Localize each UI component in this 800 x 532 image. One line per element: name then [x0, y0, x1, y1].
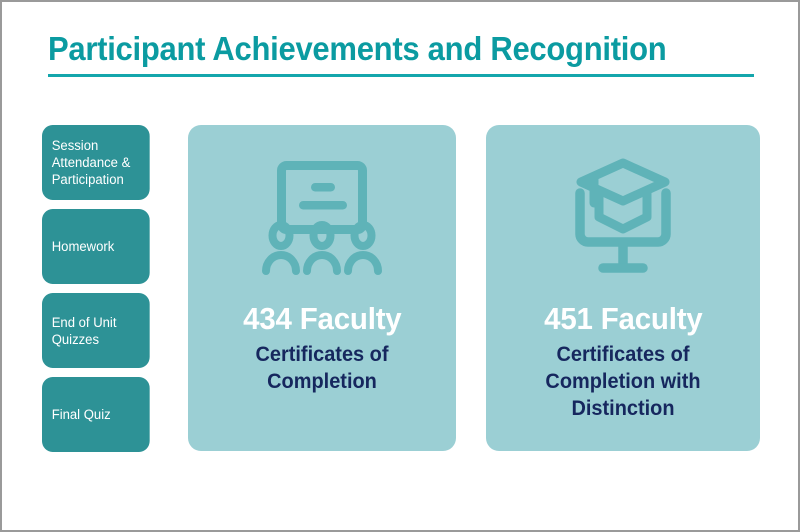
chip-homework[interactable]: Homework	[42, 209, 150, 284]
title-underline-rule	[48, 74, 754, 77]
assessment-chip-list: Session Attendance & Participation Homew…	[42, 125, 153, 452]
slide: Participant Achievements and Recognition…	[0, 0, 800, 532]
chip-label: Homework	[52, 238, 115, 255]
stat-card-certificates-of-completion[interactable]: 434 Faculty Certificates of Completion	[188, 125, 456, 451]
stat-caption: Certificates of Completion with Distinct…	[493, 341, 753, 422]
graduation-cap-monitor-icon	[561, 151, 685, 287]
chip-label: End of Unit Quizzes	[52, 314, 140, 348]
stat-card-certificates-with-distinction[interactable]: 451 Faculty Certificates of Completion w…	[486, 125, 760, 451]
chip-final-quiz[interactable]: Final Quiz	[42, 377, 150, 452]
chip-label: Session Attendance & Participation	[52, 137, 140, 188]
chip-session-attendance-participation[interactable]: Session Attendance & Participation	[42, 125, 150, 200]
page-title: Participant Achievements and Recognition	[48, 30, 715, 68]
chip-end-of-unit-quizzes[interactable]: End of Unit Quizzes	[42, 293, 150, 368]
title-block: Participant Achievements and Recognition	[48, 30, 758, 77]
stat-number: 451 Faculty	[544, 301, 702, 337]
stat-caption: Certificates of Completion	[195, 341, 450, 395]
stat-number: 434 Faculty	[243, 301, 401, 337]
chip-label: Final Quiz	[52, 406, 111, 423]
presentation-board-audience-icon	[259, 151, 385, 287]
